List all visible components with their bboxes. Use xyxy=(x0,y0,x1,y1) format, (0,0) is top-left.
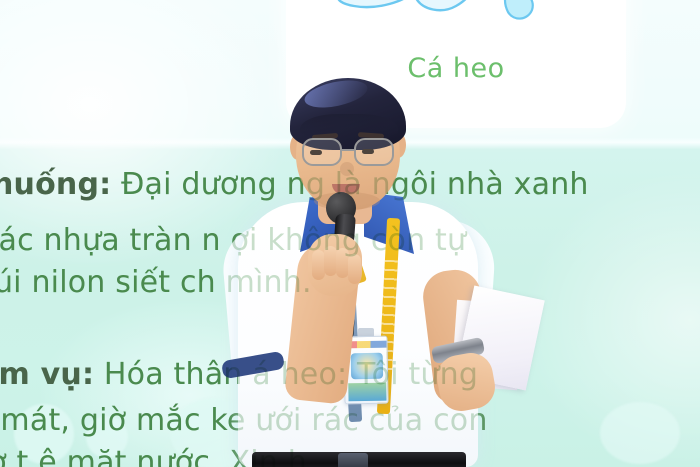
glasses-bridge xyxy=(342,149,354,151)
screenshot-root: Cá heo huống: Đại dương ng là ngôi nhà x… xyxy=(0,0,700,467)
belt-buckle xyxy=(338,453,368,467)
speaker xyxy=(196,74,516,467)
lens-left xyxy=(302,138,342,166)
slide-line-4-label: êm vụ: xyxy=(0,357,94,392)
nose xyxy=(340,162,354,176)
finger xyxy=(348,254,361,284)
badge-artwork xyxy=(351,353,383,380)
slide-line-1-label: huống: xyxy=(0,167,111,202)
lens-right xyxy=(354,138,394,166)
badge-footer-band xyxy=(348,383,386,402)
